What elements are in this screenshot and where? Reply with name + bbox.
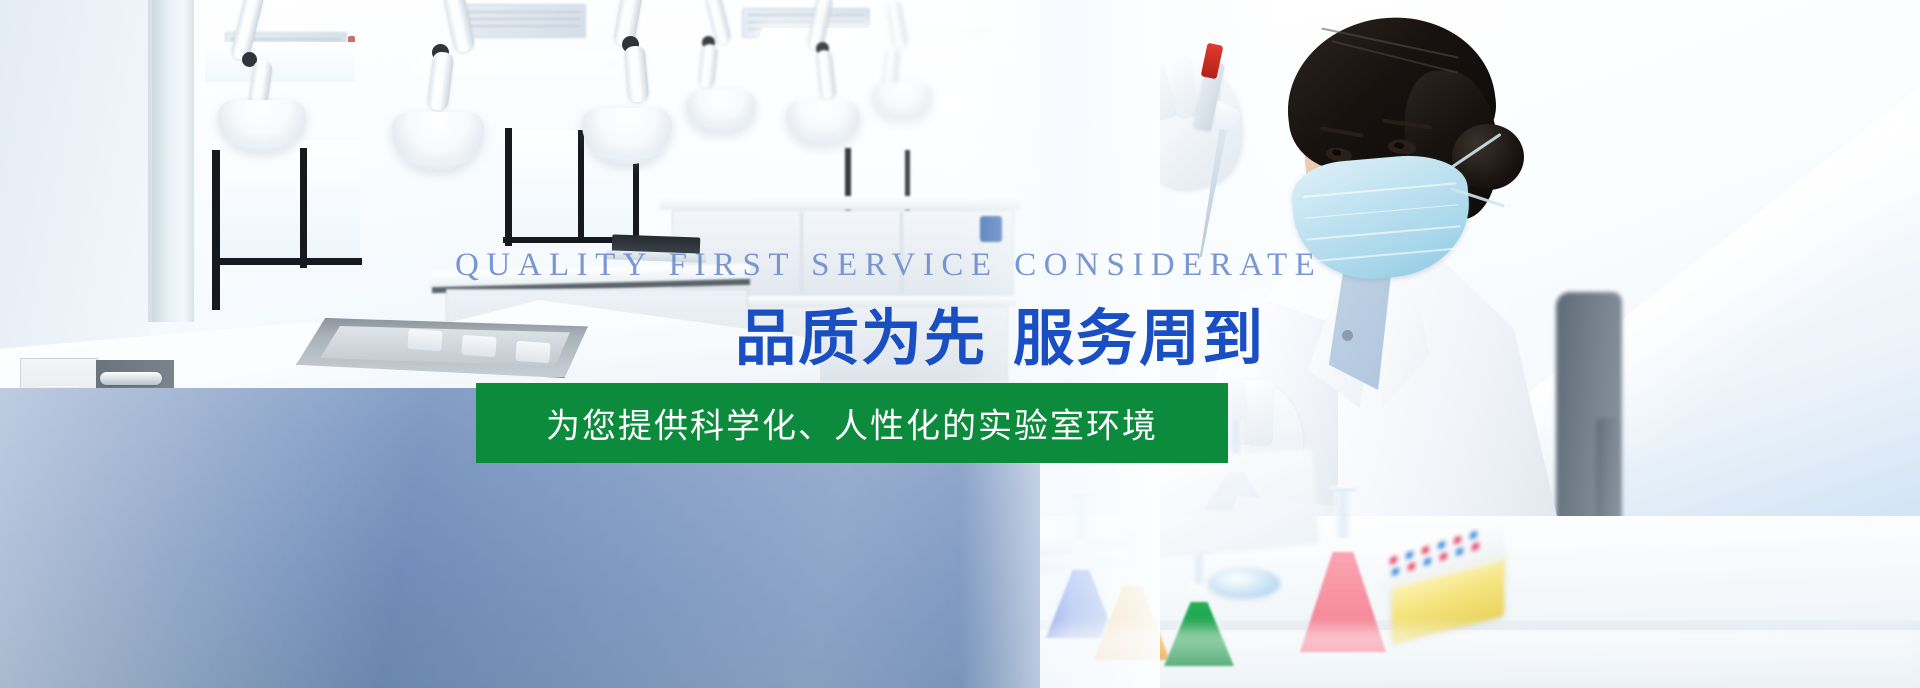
subtitle-text: 为您提供科学化、人性化的实验室环境 (476, 399, 1228, 448)
headline: 品质为先服务周到 (735, 288, 1265, 377)
headline-part-2: 服务周到 (1013, 304, 1265, 372)
subtitle-green-bar: 为您提供科学化、人性化的实验室环境 (476, 383, 1228, 463)
promotional-banner: QUALITY FIRST SERVICE CONSIDERATE 品质为先服务… (0, 0, 1920, 688)
headline-part-1: 品质为先 (735, 304, 987, 372)
eyebrow-tagline: QUALITY FIRST SERVICE CONSIDERATE (455, 247, 1322, 284)
text-overlay: QUALITY FIRST SERVICE CONSIDERATE 品质为先服务… (0, 0, 1920, 688)
